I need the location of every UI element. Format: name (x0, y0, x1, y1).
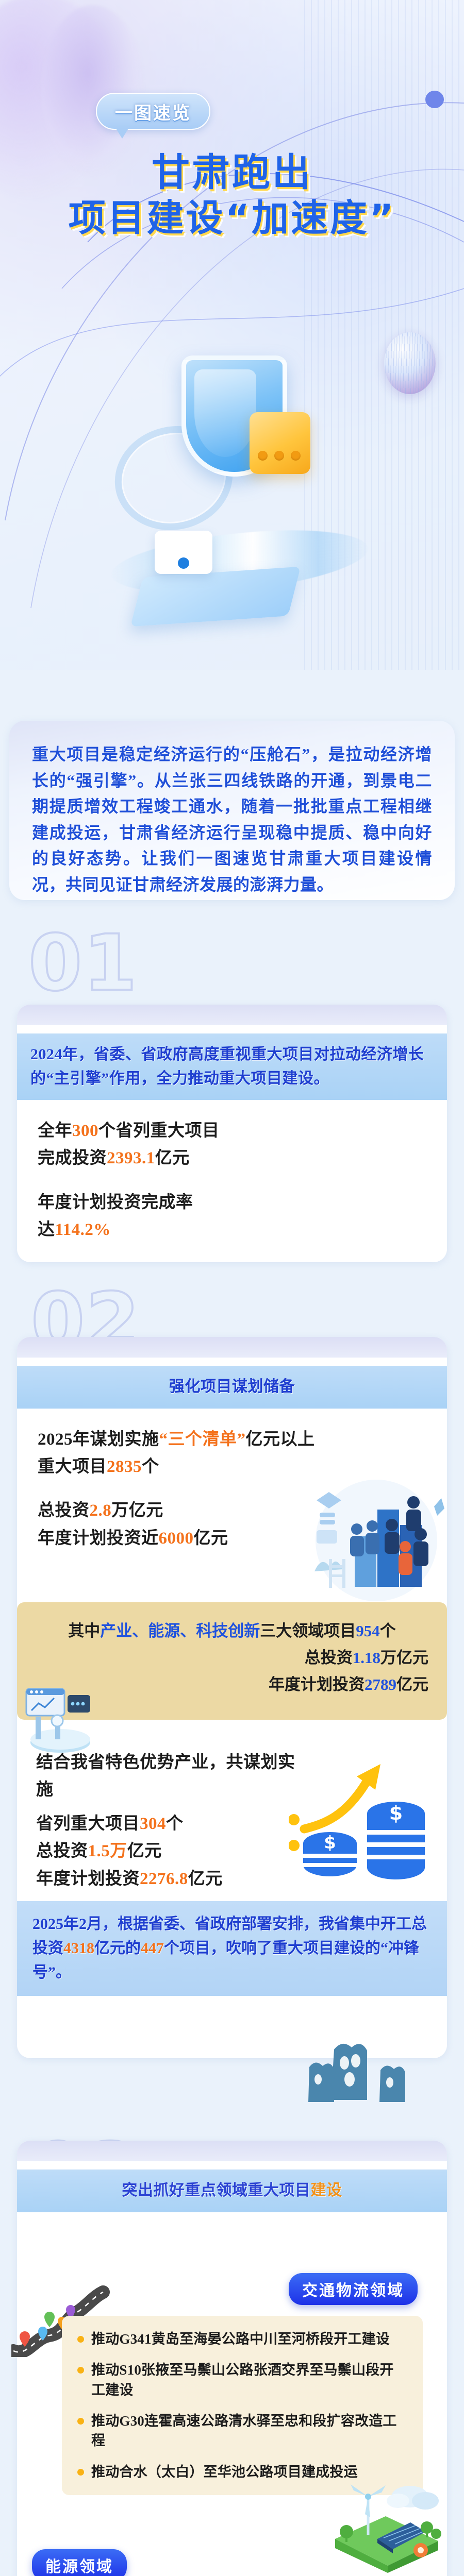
stat-line: 结合我省特色优势产业，共谋划实施 (36, 1749, 304, 1804)
bullet-icon (77, 2367, 84, 2374)
stat-prefix: 年度计划投资完成率 (38, 1193, 193, 1212)
stat-number: 2276.8 (140, 1870, 188, 1888)
stat-prefix: 年度计划投资近 (38, 1529, 159, 1548)
stat-prefix: 总投资 (38, 1501, 90, 1520)
section-02-stats-b: 结合我省特色优势产业，共谋划实施 省列重大项目304个 总投资1.5万亿元 年度… (36, 1749, 304, 1893)
badge-speech-bubble: 一图速览 (96, 93, 210, 130)
kd3-prefix: 年度计划投资 (269, 1675, 364, 1693)
business-team-illustration (299, 1468, 449, 1602)
bullet-icon (77, 2469, 84, 2476)
stat-number: 304 (140, 1815, 166, 1833)
stat-suffix: 亿元 (188, 1870, 223, 1888)
list-item: 推动G30连霍高速公路清水驿至忠和段扩容改造工程 (77, 2411, 407, 2451)
closing-p2: 亿元的 (94, 1940, 141, 1957)
list-item: 推动G341黄岛至海晏公路中川至河桥段开工建设 (77, 2329, 407, 2349)
section-03-title-bar: 突出抓好重点领域重大项目建设 (17, 2170, 447, 2212)
stat-number: 6000 (159, 1529, 194, 1548)
page-title-line1: 甘肃跑出 (0, 149, 464, 196)
tag-transport-logistics: 交通物流领域 (289, 2273, 418, 2305)
stat-suffix: 亿元以上 (246, 1430, 315, 1449)
stat-line: 2025年谋划实施“三个清单”亿元以上 (38, 1426, 426, 1453)
svg-text:$: $ (389, 1802, 403, 1824)
stat-number: 2835 (107, 1458, 142, 1476)
section-03-title-blue: 突出抓好重点领域重大项目 (122, 2182, 311, 2199)
section-01-lead-bar: 2024年，省委、省政府高度重视重大项目对拉动经济增长的“主引擎”作用，全力推动… (17, 1033, 447, 1100)
list-item-text: 推动合水（太白）至华池公路项目建成投运 (91, 2462, 358, 2482)
stat-suffix: 个省列重大项目 (98, 1122, 220, 1140)
key-domains-line-2: 总投资1.18万亿元 (36, 1645, 428, 1671)
list-item-text: 推动S10张掖至马鬃山公路张酒交界至马鬃山段开工建设 (91, 2360, 407, 2400)
bullet-icon (77, 2336, 84, 2343)
envelope-illustration (155, 531, 212, 574)
hero-section: 一图速览 甘肃跑出 项目建设“加速度” (0, 0, 464, 670)
card-cap-02 (17, 1337, 447, 1358)
stat-prefix: 重大项目 (38, 1458, 107, 1476)
list-item-text: 推动G341黄岛至海晏公路中川至河桥段开工建设 (91, 2329, 390, 2349)
kd-count: 954 (356, 1622, 380, 1640)
section-02-title: 强化项目谋划储备 (30, 1375, 434, 1399)
stat-number: 1.5万 (88, 1842, 127, 1860)
kd-domains: 产业、能源、科技创新 (100, 1622, 260, 1640)
section-01-lead-text: 2024年，省委、省政府高度重视重大项目对拉动经济增长的“主引擎”作用，全力推动… (30, 1043, 434, 1091)
stat-suffix: 亿元 (127, 1842, 162, 1860)
section-02-closing-bar: 2025年2月，根据省委、省政府部署安排，我省集中开工总投资4318亿元的447… (17, 1901, 447, 1996)
stat-number: 2.8 (90, 1501, 112, 1520)
raised-fists-illustration (304, 2009, 418, 2102)
stat-prefix: 完成投资 (38, 1149, 107, 1167)
kd3-num: 2789 (364, 1675, 396, 1693)
smart-factory-icon (23, 1685, 101, 1757)
kd-unit: 个 (380, 1622, 396, 1640)
stat-suffix: 亿元 (194, 1529, 228, 1548)
stat-line: 完成投资2393.1亿元 (38, 1145, 426, 1172)
stat-prefix: 2025年谋划实施 (38, 1430, 159, 1449)
stat-number: “三个清单” (159, 1430, 246, 1449)
chip-dot-2 (274, 451, 284, 461)
chip-card-illustration (250, 412, 310, 474)
transport-list: 推动G341黄岛至海晏公路中川至河桥段开工建设 推动S10张掖至马鬃山公路张酒交… (62, 2316, 423, 2495)
section-03-title-orange: 建设 (311, 2182, 342, 2199)
section-02-title-bar: 强化项目谋划储备 (17, 1366, 447, 1409)
stat-prefix: 年度计划投资 (36, 1870, 140, 1888)
list-item: 推动S10张掖至马鬃山公路张酒交界至马鬃山段开工建设 (77, 2360, 407, 2400)
stat-suffix: 万亿元 (111, 1501, 163, 1520)
section-card-01: 2024年，省委、省政府高度重视重大项目对拉动经济增长的“主引擎”作用，全力推动… (17, 1005, 447, 1262)
kd-plain-a: 其中 (68, 1622, 100, 1640)
bullet-icon (77, 2418, 84, 2425)
stat-line: 年度计划投资2276.8亿元 (36, 1866, 304, 1893)
kd3-suffix: 亿元 (396, 1675, 428, 1693)
section-02-closing-text: 2025年2月，根据省委、省政府部署安排，我省集中开工总投资4318亿元的447… (32, 1912, 432, 1985)
stat-suffix: 个 (142, 1458, 159, 1476)
glass-sphere-decoration (384, 332, 436, 394)
kd-plain-b: 三大领域项目 (260, 1622, 356, 1640)
renewable-energy-illustration (320, 2478, 443, 2576)
infographic-page: 一图速览 甘肃跑出 项目建设“加速度” 重大项目是稳定经济运行的“压舱石”，是拉… (0, 0, 464, 2576)
stat-suffix: 个 (166, 1815, 184, 1833)
chip-dot-3 (291, 451, 301, 461)
section-01-stats: 全年300个省列重大项目 完成投资2393.1亿元 年度计划投资完成率 达114… (17, 1100, 447, 1265)
card-cap-03 (17, 2141, 447, 2161)
badge-label: 一图速览 (115, 99, 191, 124)
stat-number: 300 (72, 1122, 98, 1140)
tag-energy: 能源领域 (32, 2549, 127, 2576)
closing-n2: 447 (141, 1940, 164, 1957)
stat-line: 年度计划投资完成率 (38, 1189, 426, 1216)
kd2-suffix: 万亿元 (380, 1649, 428, 1667)
list-item-text: 推动G30连霍高速公路清水驿至忠和段扩容改造工程 (91, 2411, 407, 2451)
card-cap-01 (17, 1005, 447, 1025)
stat-suffix: 亿元 (155, 1149, 190, 1167)
stat-line: 全年300个省列重大项目 (38, 1117, 426, 1145)
section-number-01: 01 (28, 925, 138, 1002)
key-domains-line-1: 其中产业、能源、科技创新三大领域项目954个 (36, 1618, 428, 1645)
stat-number: 2393.1 (107, 1149, 155, 1167)
svg-text:$: $ (324, 1833, 336, 1853)
kd2-prefix: 总投资 (305, 1649, 353, 1667)
stat-prefix: 达 (38, 1221, 55, 1239)
stat-prefix: 结合我省特色优势产业，共谋划实施 (36, 1753, 295, 1799)
stat-number: 114.2% (55, 1221, 111, 1239)
closing-n1: 4318 (63, 1940, 94, 1957)
kd2-num: 1.18 (353, 1649, 380, 1667)
section-03-title: 突出抓好重点领域重大项目建设 (30, 2179, 434, 2203)
stat-prefix: 总投资 (36, 1842, 88, 1860)
stat-prefix: 省列重大项目 (36, 1815, 140, 1833)
stat-line: 省列重大项目304个 (36, 1810, 304, 1838)
chip-dot-1 (258, 451, 268, 461)
page-title: 甘肃跑出 项目建设“加速度” (0, 149, 464, 241)
page-title-line2: 项目建设“加速度” (0, 196, 464, 241)
intro-card: 重大项目是稳定经济运行的“压舱石”，是拉动经济增长的“强引擎”。从兰张三四线铁路… (9, 721, 455, 900)
intro-paragraph: 重大项目是稳定经济运行的“压舱石”，是拉动经济增长的“强引擎”。从兰张三四线铁路… (32, 741, 432, 897)
stat-line: 总投资1.5万亿元 (36, 1838, 304, 1865)
growth-coins-illustration: $ $ (289, 1762, 443, 1901)
stat-line: 达114.2% (38, 1216, 426, 1244)
stat-prefix: 全年 (38, 1122, 72, 1140)
